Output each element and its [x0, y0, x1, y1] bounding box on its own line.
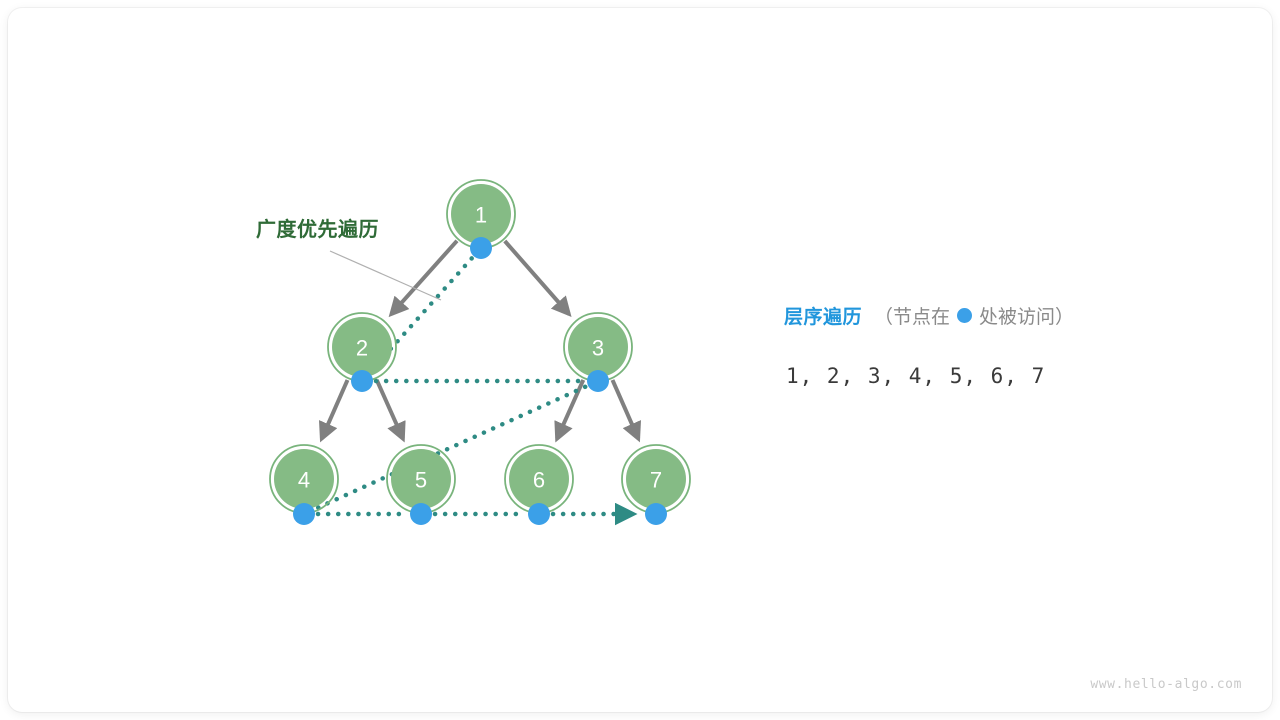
- visit-dot-3: [587, 370, 609, 392]
- legend-note-before: （节点在: [874, 302, 950, 329]
- visit-dot-2: [351, 370, 373, 392]
- visit-dot-4: [293, 503, 315, 525]
- visit-dot-icon: [957, 308, 972, 323]
- figure-canvas: 1234567 广度优先遍历 层序遍历 （节点在 处被访问） 1, 2, 3, …: [0, 0, 1280, 720]
- tree-node-4: 4: [270, 445, 338, 513]
- tree-node-6: 6: [505, 445, 573, 513]
- tree-edge: [391, 241, 457, 314]
- tree-edge: [505, 241, 569, 314]
- tree-edge: [377, 380, 403, 439]
- legend: 层序遍历 （节点在 处被访问）: [784, 302, 1074, 329]
- node-value: 6: [533, 468, 545, 493]
- visit-dot-1: [470, 237, 492, 259]
- visit-dot-5: [410, 503, 432, 525]
- node-value: 1: [475, 203, 487, 228]
- tree-edge: [613, 380, 639, 439]
- tree-edge: [557, 380, 583, 439]
- tree-node-5: 5: [387, 445, 455, 513]
- traversal-sequence: 1, 2, 3, 4, 5, 6, 7: [786, 364, 1045, 388]
- visit-dot-6: [528, 503, 550, 525]
- node-value: 3: [592, 336, 604, 361]
- node-value: 5: [415, 468, 427, 493]
- tree-node-7: 7: [622, 445, 690, 513]
- legend-note-after: 处被访问）: [979, 302, 1074, 329]
- binary-tree-diagram: 1234567: [0, 0, 1280, 720]
- watermark: www.hello-algo.com: [1090, 677, 1242, 692]
- node-value: 7: [650, 468, 662, 493]
- node-value: 4: [298, 468, 310, 493]
- legend-title: 层序遍历: [784, 302, 862, 329]
- node-value: 2: [356, 336, 368, 361]
- bfs-annotation-label: 广度优先遍历: [256, 213, 379, 242]
- tree-edge: [322, 380, 348, 439]
- legend-note: （节点在 处被访问）: [874, 302, 1074, 329]
- visit-dot-7: [645, 503, 667, 525]
